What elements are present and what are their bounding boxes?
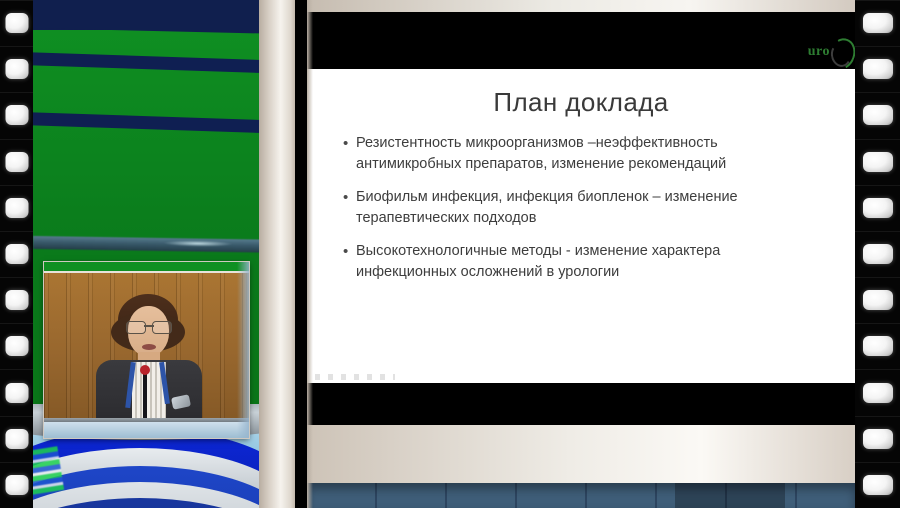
speaker-mouth xyxy=(142,344,156,350)
film-sprocket-hole xyxy=(5,198,28,218)
film-frame-separator xyxy=(855,139,900,140)
projection-left-edge xyxy=(307,0,313,508)
bullet-text: Высокотехнологичные методы - изменение х… xyxy=(356,241,815,283)
film-frame-separator xyxy=(0,46,33,47)
slide-bullet-list: • Резистентность микроорганизмов –неэффе… xyxy=(343,133,815,295)
film-frame-separator xyxy=(0,0,33,1)
film-sprocket-hole xyxy=(863,429,893,449)
wall-top-strip xyxy=(307,0,855,12)
film-sprocket-hole xyxy=(5,152,28,172)
list-item: • Высокотехнологичные методы - изменение… xyxy=(343,241,815,283)
inset-desk-surface xyxy=(44,422,249,438)
film-sprocket-hole xyxy=(863,475,893,495)
presentation-slide: План доклада • Резистентность микроорган… xyxy=(307,69,855,383)
film-strip-right xyxy=(855,0,900,508)
bullet-marker-icon: • xyxy=(343,187,356,229)
film-sprocket-hole xyxy=(5,13,28,33)
projection-screen-area: uro План доклада • Резистентность микроо… xyxy=(307,0,855,508)
film-frame-separator xyxy=(0,185,33,186)
film-frame-separator xyxy=(0,369,33,370)
film-sprocket-hole xyxy=(863,59,893,79)
film-sprocket-hole xyxy=(863,152,893,172)
film-frame-separator xyxy=(855,277,900,278)
film-frame-separator xyxy=(0,231,33,232)
uro-swoosh-icon xyxy=(829,37,851,67)
film-strip-left xyxy=(0,0,33,508)
floor-strip xyxy=(307,483,855,508)
film-sprocket-hole xyxy=(5,244,28,264)
film-sprocket-hole xyxy=(863,336,893,356)
film-sprocket-hole xyxy=(863,383,893,403)
film-frame-separator xyxy=(0,92,33,93)
wall-bottom-strip xyxy=(307,425,855,483)
film-sprocket-hole xyxy=(5,429,28,449)
glasses-left-lens xyxy=(126,321,146,334)
film-frame-separator xyxy=(855,0,900,1)
bullet-marker-icon: • xyxy=(343,133,356,175)
film-sprocket-hole xyxy=(863,105,893,125)
speaker-video-inset[interactable] xyxy=(44,262,249,438)
film-frame-separator xyxy=(855,46,900,47)
bullet-text: Биофильм инфекция, инфекция биопленок – … xyxy=(356,187,815,229)
list-item: • Резистентность микроорганизмов –неэффе… xyxy=(343,133,815,175)
film-sprocket-hole xyxy=(863,198,893,218)
film-frame-separator xyxy=(0,462,33,463)
glasses-bridge xyxy=(144,325,154,327)
film-frame-separator xyxy=(0,277,33,278)
letterbox-bar-bottom xyxy=(307,383,855,425)
film-sprocket-hole xyxy=(863,244,893,264)
film-frame-separator xyxy=(855,416,900,417)
film-sprocket-hole xyxy=(5,475,28,495)
film-frame-separator xyxy=(0,139,33,140)
bullet-text: Резистентность микроорганизмов –неэффект… xyxy=(356,133,815,175)
glasses-right-lens xyxy=(152,321,172,334)
stage-band-glint xyxy=(163,240,233,247)
video-frame: uro План доклада • Резистентность микроо… xyxy=(0,0,900,508)
film-frame-separator xyxy=(855,369,900,370)
film-frame-separator xyxy=(855,462,900,463)
film-sprocket-hole xyxy=(863,13,893,33)
inset-right-light-falloff xyxy=(237,262,249,438)
film-sprocket-hole xyxy=(5,336,28,356)
film-frame-separator xyxy=(855,323,900,324)
studio-beige-pillar xyxy=(259,0,295,508)
inset-white-divider xyxy=(44,271,249,273)
microphone-icon xyxy=(143,372,147,418)
film-sprocket-hole xyxy=(5,290,28,310)
slide-title: План доклада xyxy=(307,87,855,118)
uro-logo-text: uro xyxy=(808,44,830,60)
film-frame-separator xyxy=(0,416,33,417)
film-sprocket-hole xyxy=(5,105,28,125)
film-frame-separator xyxy=(855,92,900,93)
film-frame-separator xyxy=(855,185,900,186)
film-sprocket-hole xyxy=(5,383,28,403)
film-frame-separator xyxy=(855,231,900,232)
speaker-glasses-icon xyxy=(126,321,172,332)
bullet-marker-icon: • xyxy=(343,241,356,283)
film-sprocket-hole xyxy=(863,290,893,310)
film-frame-separator xyxy=(0,323,33,324)
list-item: • Биофильм инфекция, инфекция биопленок … xyxy=(343,187,815,229)
letterbox-bar-top: uro xyxy=(307,12,855,69)
film-sprocket-hole xyxy=(5,59,28,79)
inset-green-top-band xyxy=(44,262,249,271)
slide-footer-marks xyxy=(315,374,395,380)
uro-logo: uro xyxy=(808,38,851,66)
